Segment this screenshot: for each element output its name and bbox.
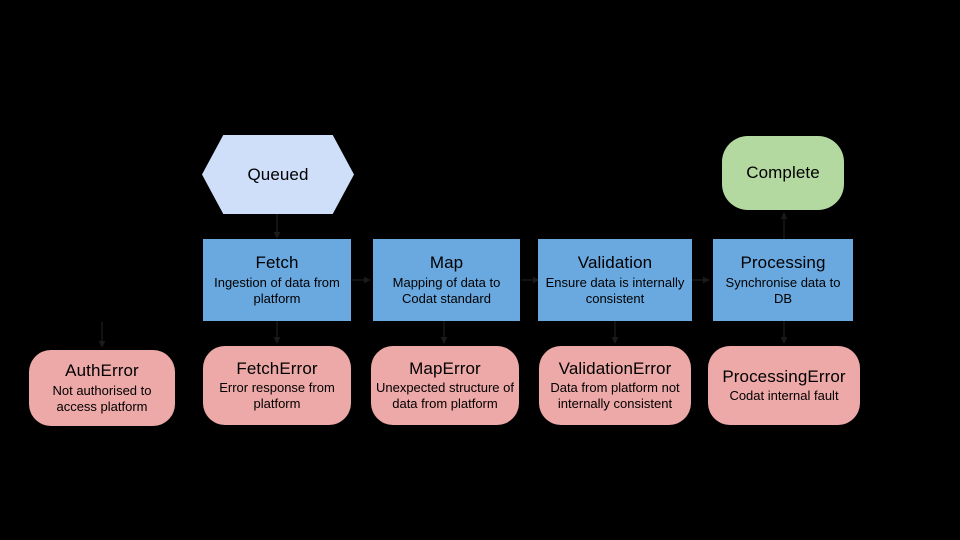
connector-validation-to-processing (691, 273, 713, 287)
node-complete-title: Complete (746, 163, 820, 183)
node-complete[interactable]: Complete (722, 136, 844, 210)
node-stage-processing[interactable]: Processing Synchronise data to DB (713, 239, 853, 321)
node-error-auth-title: AuthError (65, 361, 139, 381)
node-stage-fetch[interactable]: Fetch Ingestion of data from platform (203, 239, 351, 321)
node-stage-fetch-title: Fetch (255, 253, 298, 273)
node-error-fetch[interactable]: FetchError Error response from platform (203, 346, 351, 425)
node-error-fetch-title: FetchError (236, 359, 317, 379)
diagram-canvas: Queued Complete Fetch Ingestion of data … (0, 0, 960, 540)
connector-fetch-to-map (352, 273, 374, 287)
node-stage-validation[interactable]: Validation Ensure data is internally con… (538, 239, 692, 321)
node-error-validation[interactable]: ValidationError Data from platform not i… (539, 346, 691, 425)
node-stage-map-desc: Mapping of data to Codat standard (377, 275, 515, 307)
node-error-auth-desc: Not authorised to access platform (33, 383, 170, 415)
connector-queued-to-fetch (270, 212, 284, 242)
node-error-processing[interactable]: ProcessingError Codat internal fault (708, 346, 860, 425)
node-error-validation-title: ValidationError (559, 359, 672, 379)
connector-map-to-maperror (437, 318, 451, 348)
node-stage-validation-title: Validation (578, 253, 652, 273)
connector-fetch-to-autherror (95, 322, 109, 352)
connector-processing-to-complete (777, 210, 791, 240)
connector-fetch-to-fetcherror (270, 318, 284, 348)
node-queued[interactable]: Queued (202, 135, 354, 214)
node-error-fetch-desc: Error response from platform (207, 380, 346, 412)
node-stage-validation-desc: Ensure data is internally consistent (543, 275, 688, 307)
connector-processing-to-processingerror (777, 318, 791, 348)
node-queued-title: Queued (247, 165, 308, 185)
connector-validation-to-validationerror (608, 318, 622, 348)
node-error-map-title: MapError (409, 359, 481, 379)
node-stage-fetch-desc: Ingestion of data from platform (207, 275, 346, 307)
node-stage-map-title: Map (430, 253, 463, 273)
node-stage-processing-title: Processing (740, 253, 825, 273)
node-stage-map[interactable]: Map Mapping of data to Codat standard (373, 239, 520, 321)
node-stage-processing-desc: Synchronise data to DB (717, 275, 849, 307)
node-error-validation-desc: Data from platform not internally consis… (544, 380, 687, 412)
node-error-auth[interactable]: AuthError Not authorised to access platf… (29, 350, 175, 426)
node-error-processing-desc: Codat internal fault (729, 388, 838, 404)
node-error-map[interactable]: MapError Unexpected structure of data fr… (371, 346, 519, 425)
node-error-processing-title: ProcessingError (722, 367, 845, 387)
node-error-map-desc: Unexpected structure of data from platfo… (375, 380, 514, 412)
